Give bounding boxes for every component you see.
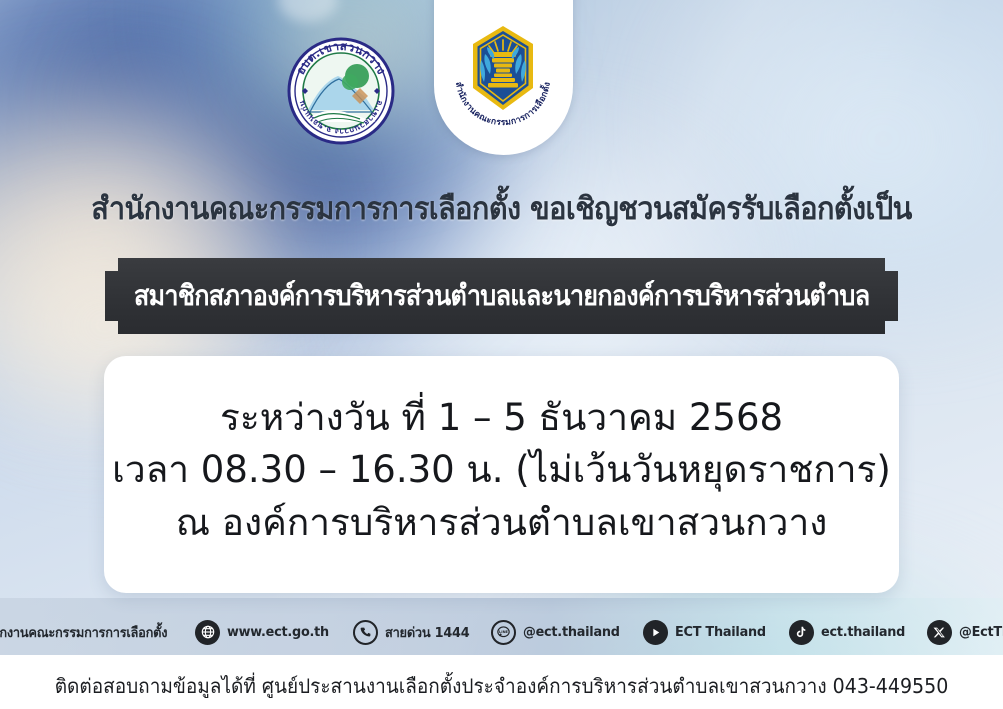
social-label-facebook: สำนักงานคณะกรรมการการเลือกตั้ง — [0, 621, 167, 643]
social-label-tiktok: ect.thailand — [821, 624, 905, 640]
svg-text:LINE: LINE — [499, 630, 509, 634]
poster-headline: สำนักงานคณะกรรมการการเลือกตั้ง ขอเชิญชวน… — [35, 183, 968, 233]
social-label-hotline: สายด่วน 1444 — [385, 621, 469, 643]
details-card: ระหว่างวัน ที่ 1 – 5 ธันวาคม 2568 เวลา 0… — [104, 356, 899, 593]
x-twitter-icon[interactable] — [927, 620, 952, 645]
ect-emblem-icon: สำนักงานคณะกรรมการการเลือกตั้ง — [444, 18, 562, 136]
social-item-facebook[interactable]: สำนักงานคณะกรรมการการเลือกตั้ง — [0, 620, 186, 645]
globe-icon[interactable] — [195, 620, 220, 645]
line-icon[interactable]: LINE — [491, 620, 516, 645]
social-item-website[interactable]: www.ect.go.th — [186, 620, 343, 645]
social-item-x-twitter[interactable]: @EctThailand — [918, 620, 1003, 645]
position-banner-text: สมาชิกสภาองค์การบริหารส่วนตำบลและนายกองค… — [134, 274, 870, 318]
social-label-line: @ect.thailand — [523, 624, 620, 640]
social-item-tiktok[interactable]: ect.thailand — [780, 620, 919, 645]
detail-line-time: เวลา 08.30 – 16.30 น. (ไม่เว้นวันหยุดราช… — [112, 446, 891, 494]
tiktok-icon[interactable] — [789, 620, 814, 645]
social-label-x-twitter: @EctThailand — [959, 624, 1003, 640]
social-item-hotline[interactable]: สายด่วน 1444 — [344, 620, 483, 645]
contact-information: ติดต่อสอบถามข้อมูลได้ที่ ศูนย์ประสานงานเ… — [25, 670, 978, 702]
election-announcement-poster: อบต.เขาสวนกวาง อ.เขาสวนกวาง จ.ขอนแก่น — [0, 0, 1003, 709]
position-banner: สมาชิกสภาองค์การบริหารส่วนตำบลและนายกองค… — [105, 258, 898, 334]
social-item-line[interactable]: LINE @ect.thailand — [482, 620, 634, 645]
detail-line-date: ระหว่างวัน ที่ 1 – 5 ธันวาคม 2568 — [220, 394, 783, 442]
social-media-bar: สำนักงานคณะกรรมการการเลือกตั้ง www.ect.g… — [0, 612, 1003, 652]
social-label-youtube: ECT Thailand — [675, 624, 766, 640]
phone-icon[interactable] — [353, 620, 378, 645]
social-label-website: www.ect.go.th — [227, 624, 329, 640]
social-item-youtube[interactable]: ECT Thailand — [634, 620, 780, 645]
youtube-icon[interactable] — [643, 620, 668, 645]
subdistrict-seal-icon: อบต.เขาสวนกวาง อ.เขาสวนกวาง จ.ขอนแก่น — [286, 36, 396, 146]
detail-line-location: ณ องค์การบริหารส่วนตำบลเขาสวนกวาง — [176, 499, 828, 547]
